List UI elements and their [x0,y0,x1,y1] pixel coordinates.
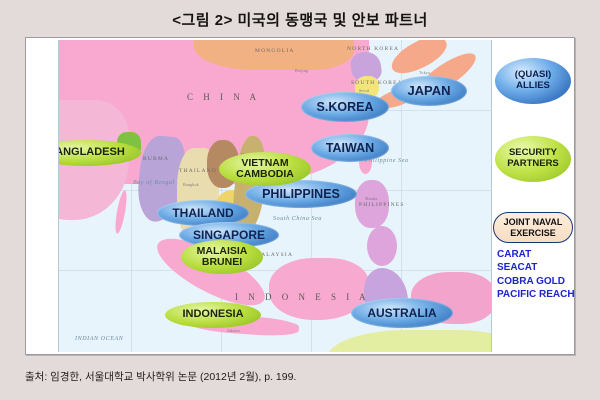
atlas-label-south-china-sea: South China Sea [273,216,322,222]
map-callout-label: BANGLADESH [58,147,125,158]
atlas-label-indian-ocean: INDIAN OCEAN [75,336,123,342]
map-callout-s-korea[interactable]: S.KOREA [301,92,389,122]
figure-screenshot: <그림 2> 미국의 동맹국 및 안보 파트너 [0,0,600,400]
map-image: C H I N A I N D O N E S I A A U S T R A … [58,40,492,352]
map-callout-japan[interactable]: JAPAN [391,76,467,106]
legend-exercise-item-pacific-reach: PACIFIC REACH [497,288,575,301]
legend-item-joint-naval-exercise[interactable]: JOINT NAVAL EXERCISE [493,212,573,243]
map-callout-label: THAILAND [172,207,233,219]
map-callout-taiwan[interactable]: TAIWAN [311,134,389,162]
legend-panel: (QUASI) ALLIES SECURITY PARTNERS JOINT N… [492,40,574,352]
legend-exercise-line2: EXERCISE [510,228,556,239]
legend-partners-line2: PARTNERS [507,159,559,170]
legend-exercise-item-cobra-gold: COBRA GOLD [497,275,575,288]
map-callout-label-line2: CAMBODIA [236,169,294,180]
map-callout-label: INDONESIA [182,309,243,320]
map-callout-label: JAPAN [407,84,450,97]
legend-exercise-item-seacat: SEACAT [497,261,575,274]
figure-title: <그림 2> 미국의 동맹국 및 안보 파트너 [0,9,600,30]
map-callout-label: TAIWAN [326,142,374,155]
map-callout-australia[interactable]: AUSTRALIA [351,298,453,328]
legend-allies-line2: ALLIES [516,81,550,92]
legend-item-quasi-allies[interactable]: (QUASI) ALLIES [495,58,571,104]
landmass-luzon [355,180,389,228]
map-callout-label: PHILIPPINES [262,188,340,201]
map-callout-label: AUSTRALIA [367,307,436,319]
figure-source: 출처: 임경한, 서울대학교 박사학위 논문 (2012년 2월), p. 19… [25,369,575,384]
legend-exercise-list: CARAT SEACAT COBRA GOLD PACIFIC REACH [497,248,575,302]
map-callout-vietnam-cambodia[interactable]: VIETNAM CAMBODIA [219,152,311,186]
landmass-mindanao [367,226,397,266]
map-callout-indonesia[interactable]: INDONESIA [165,302,261,328]
figure-frame: C H I N A I N D O N E S I A A U S T R A … [25,37,575,355]
map-canvas: C H I N A I N D O N E S I A A U S T R A … [59,40,491,352]
legend-exercise-item-carat: CARAT [497,248,575,261]
legend-exercise-line1: JOINT NAVAL [504,217,563,228]
map-callout-label: S.KOREA [317,101,374,114]
map-callout-label-line2: BRUNEI [202,257,242,268]
map-callout-malaisia-brunei[interactable]: MALAISIA BRUNEI [181,240,263,274]
landmass-australia [327,330,492,352]
legend-item-security-partners[interactable]: SECURITY PARTNERS [495,136,571,182]
